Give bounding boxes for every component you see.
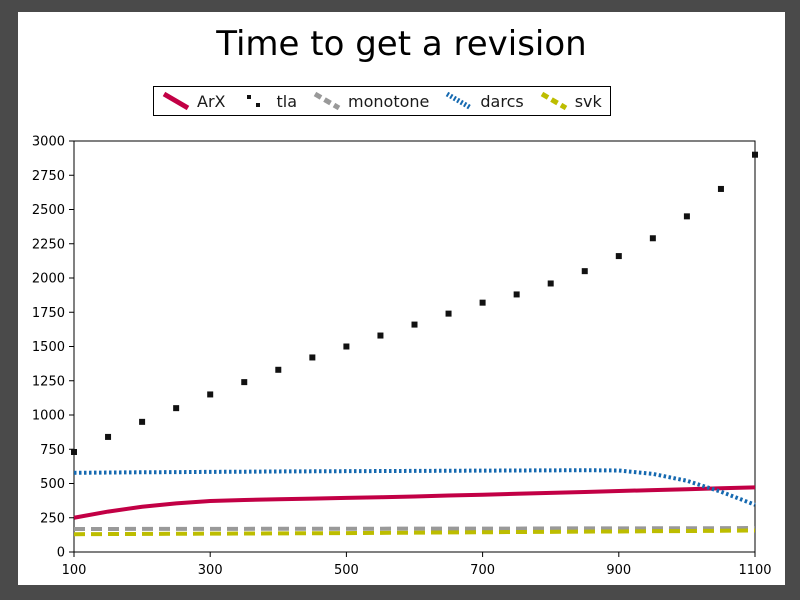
series-marker-tla [173,405,179,411]
series-line-arx [74,487,755,517]
y-tick-label: 1500 [32,340,65,355]
y-tick-label: 3000 [32,135,65,150]
y-tick-label: 2000 [32,272,65,287]
series-marker-tla [412,322,418,328]
plot-area: 0250500750100012501500175020002250250027… [18,12,785,585]
series-marker-tla [241,379,247,385]
x-tick-label: 700 [470,563,495,578]
x-tick-label: 100 [62,563,87,578]
y-tick-label: 1250 [32,374,65,389]
x-tick-label: 300 [198,563,223,578]
x-tick-label: 500 [334,563,359,578]
series-marker-tla [446,311,452,317]
series-marker-tla [718,186,724,192]
y-tick-label: 250 [40,511,65,526]
chart-canvas: Time to get a revision ArXtlamonotonedar… [18,12,785,585]
y-tick-label: 1000 [32,409,65,424]
series-marker-tla [71,449,77,455]
series-marker-tla [139,419,145,425]
series-line-monotone [74,528,755,529]
series-marker-tla [752,152,758,158]
y-tick-label: 750 [40,443,65,458]
y-tick-label: 2250 [32,237,65,252]
series-marker-tla [548,280,554,286]
y-tick-label: 2750 [32,169,65,184]
y-tick-label: 2500 [32,203,65,218]
series-marker-tla [343,344,349,350]
series-marker-tla [616,253,622,259]
series-marker-tla [480,300,486,306]
y-tick-label: 0 [57,546,65,561]
x-tick-label: 1100 [738,563,771,578]
series-marker-tla [105,434,111,440]
series-marker-tla [207,391,213,397]
y-tick-label: 1750 [32,306,65,321]
series-marker-tla [309,354,315,360]
series-line-darcs [74,470,755,505]
series-marker-tla [582,268,588,274]
series-marker-tla [514,291,520,297]
series-marker-tla [684,213,690,219]
x-tick-label: 900 [606,563,631,578]
series-marker-tla [275,367,281,373]
series-marker-tla [650,235,656,241]
series-marker-tla [377,333,383,339]
plot-svg: 0250500750100012501500175020002250250027… [18,12,785,585]
y-tick-label: 500 [40,477,65,492]
window-frame: Time to get a revision ArXtlamonotonedar… [0,0,800,600]
series-line-svk [74,530,755,534]
